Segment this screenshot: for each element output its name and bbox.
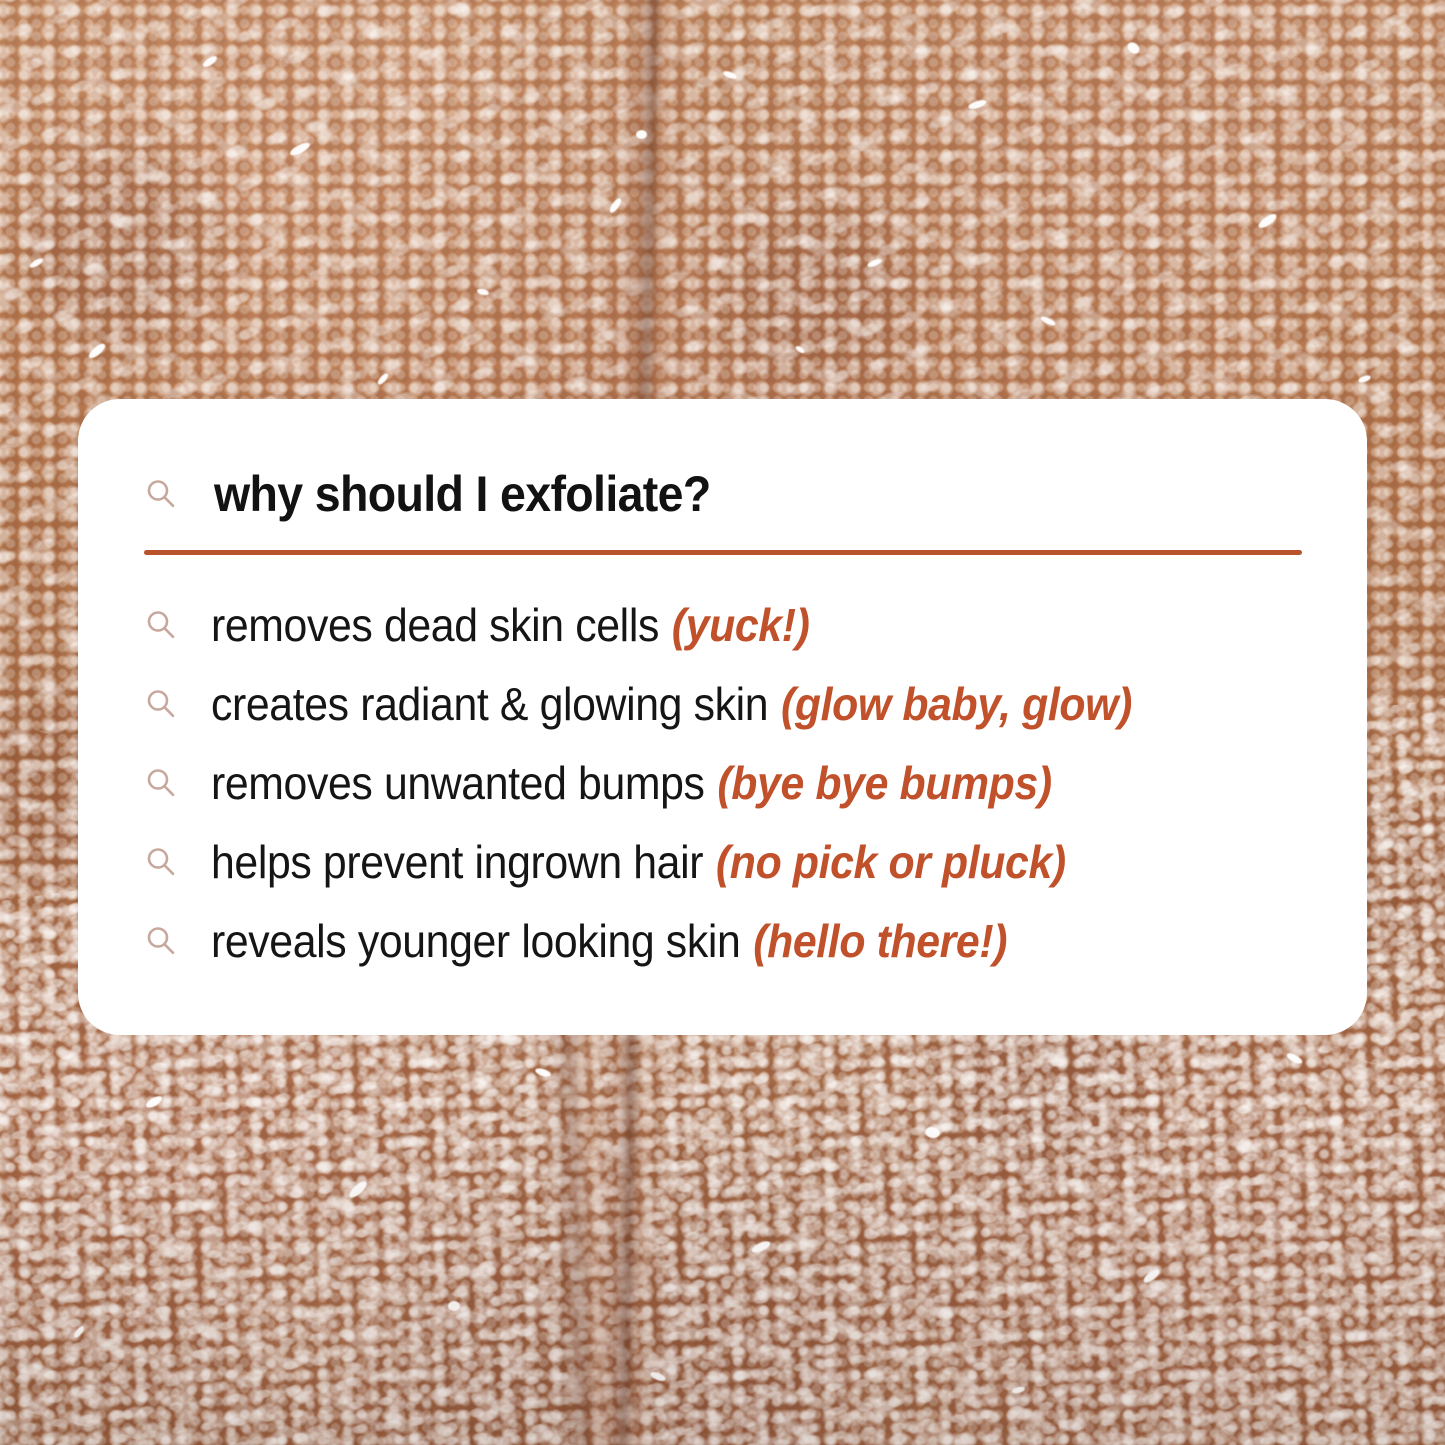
search-icon xyxy=(144,608,178,642)
list-item: creates radiant & glowing skin(glow baby… xyxy=(144,664,1301,743)
list-item: reveals younger looking skin(hello there… xyxy=(144,901,1301,980)
list-item: removes dead skin cells(yuck!) xyxy=(144,585,1301,664)
benefits-list: removes dead skin cells(yuck!) creates r… xyxy=(144,585,1301,980)
search-icon xyxy=(144,477,178,511)
search-icon xyxy=(144,845,178,879)
benefit-text: helps prevent ingrown hair xyxy=(211,836,703,888)
title-divider xyxy=(144,550,1302,555)
benefit-aside: (yuck!) xyxy=(672,599,810,651)
search-icon xyxy=(144,766,178,800)
benefit-aside: (no pick or pluck) xyxy=(716,836,1066,888)
benefit-aside: (glow baby, glow) xyxy=(781,678,1132,730)
search-icon xyxy=(144,924,178,958)
search-icon xyxy=(144,687,178,721)
card-header: why should I exfoliate? xyxy=(144,463,1301,525)
benefit-text: reveals younger looking skin xyxy=(211,915,740,967)
benefits-card: why should I exfoliate? removes dead ski… xyxy=(78,399,1367,1035)
list-item: removes unwanted bumps(bye bye bumps) xyxy=(144,743,1301,822)
benefit-text: removes dead skin cells xyxy=(211,599,659,651)
benefit-aside: (hello there!) xyxy=(753,915,1007,967)
list-item: helps prevent ingrown hair(no pick or pl… xyxy=(144,822,1301,901)
benefit-text: removes unwanted bumps xyxy=(211,757,705,809)
page-title: why should I exfoliate? xyxy=(214,469,711,519)
product-infographic: why should I exfoliate? removes dead ski… xyxy=(0,0,1445,1445)
benefit-text: creates radiant & glowing skin xyxy=(211,678,768,730)
benefit-aside: (bye bye bumps) xyxy=(717,757,1051,809)
